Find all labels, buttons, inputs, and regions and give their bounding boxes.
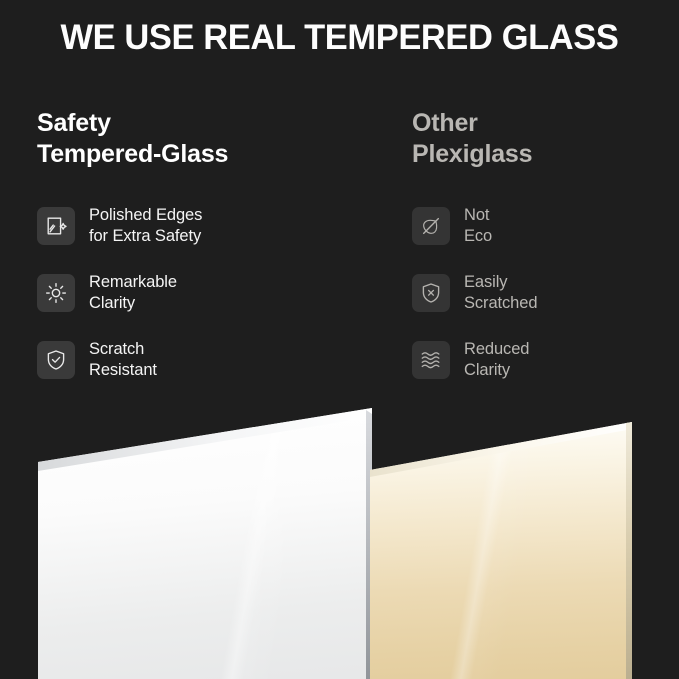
tempered-glass-panel [38,408,372,679]
feature-label: Easily Scratched [464,272,537,314]
column-safety-tempered-glass: Safety Tempered-Glass Polished Edges for… [37,108,337,399]
shield-check-icon [37,341,75,379]
feature-label: Polished Edges for Extra Safety [89,205,202,247]
feature-label: Not Eco [464,205,492,247]
waves-icon [412,341,450,379]
comparison-columns: Safety Tempered-Glass Polished Edges for… [0,108,679,408]
column-title-right: Other Plexiglass [412,108,679,170]
tempered-glass-comparison-infographic: WE USE REAL TEMPERED GLASS Safety Temper… [0,0,679,679]
product-panels-image [0,400,679,679]
feature-remarkable-clarity: Remarkable Clarity [37,265,337,320]
column-title-left: Safety Tempered-Glass [37,108,337,170]
polished-edge-icon [37,207,75,245]
leaf-crossed-icon [412,207,450,245]
feature-reduced-clarity: Reduced Clarity [412,332,679,387]
column-other-plexiglass: Other Plexiglass Not Eco [412,108,679,399]
feature-polished-edges: Polished Edges for Extra Safety [37,198,337,253]
feature-label: Scratch Resistant [89,339,157,381]
feature-easily-scratched: Easily Scratched [412,265,679,320]
shield-x-icon [412,274,450,312]
feature-list-left: Polished Edges for Extra Safety Remarkab… [37,198,337,387]
feature-label: Reduced Clarity [464,339,529,381]
feature-list-right: Not Eco Easily Scratched [412,198,679,387]
feature-not-eco: Not Eco [412,198,679,253]
feature-label: Remarkable Clarity [89,272,177,314]
plexiglass-panel [370,422,636,679]
sun-clarity-icon [37,274,75,312]
feature-scratch-resistant: Scratch Resistant [37,332,337,387]
page-title: WE USE REAL TEMPERED GLASS [5,18,674,58]
